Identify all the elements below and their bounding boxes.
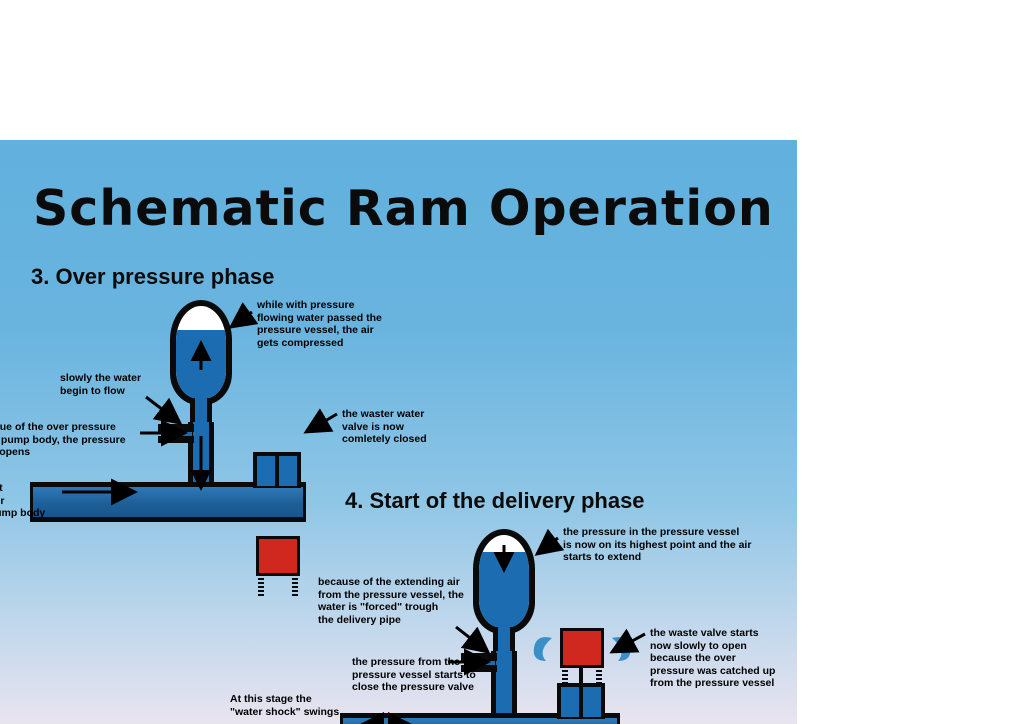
phase4-arrow-layer [0, 140, 797, 724]
slide-canvas: Schematic Ram Operation 3. Over pressure… [0, 140, 797, 724]
arrow-extending-air-p4 [456, 627, 488, 652]
arrow-vessel-pressure-p4 [537, 538, 558, 554]
arrow-waste-valve-p4 [612, 634, 645, 652]
page-root: Schematic Ram Operation 3. Over pressure… [0, 0, 1024, 724]
